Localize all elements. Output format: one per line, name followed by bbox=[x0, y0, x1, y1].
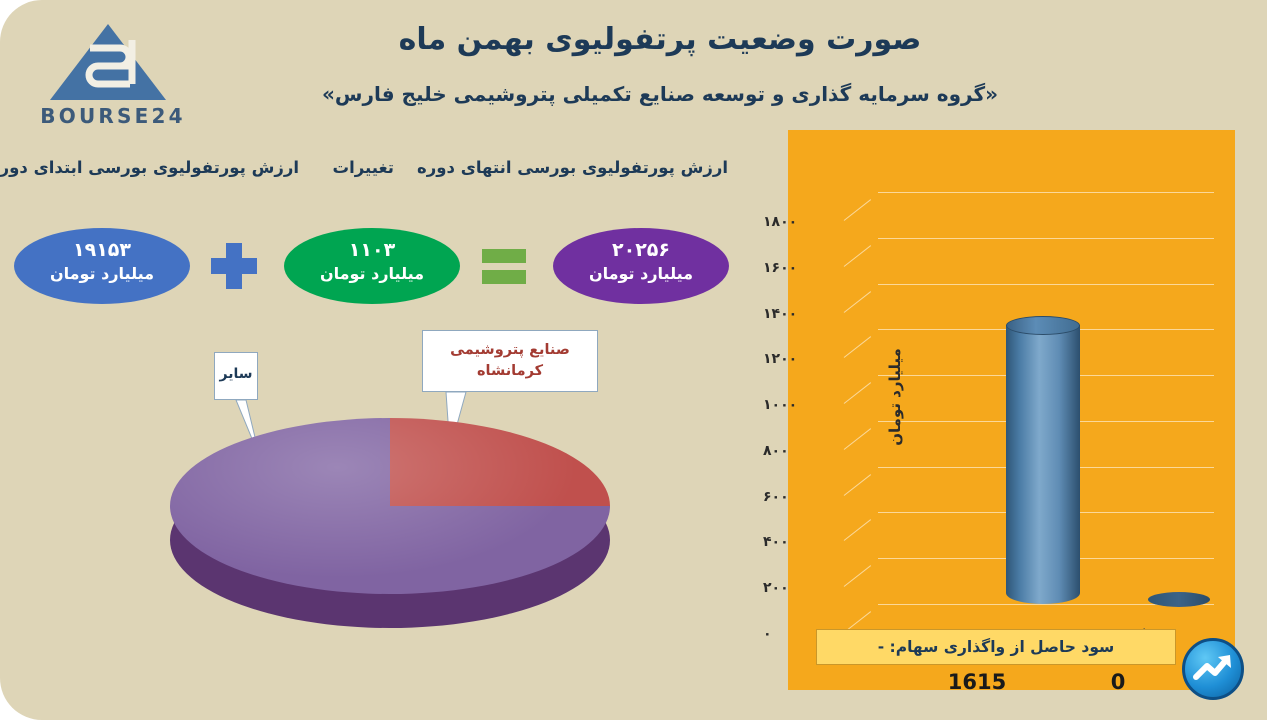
trend-arrow-glyph bbox=[1185, 641, 1241, 697]
xval-buy: 1615 bbox=[902, 670, 1052, 694]
summary-label-start: ارزش پورتفولیوی بورسی ابتدای دوره bbox=[0, 158, 299, 177]
summary-label-change: تغییرات bbox=[333, 158, 394, 177]
infographic-poster: BOURSE24 صورت وضعیت پرتفولیوی بهمن ماه «… bbox=[0, 0, 1267, 720]
bar-sell bbox=[1148, 592, 1210, 607]
ytick-200: ۲۰۰ bbox=[763, 580, 833, 596]
ytick-600: ۶۰۰ bbox=[763, 489, 833, 505]
brand-wordmark: BOURSE24 bbox=[28, 104, 198, 128]
summary-value-change: ۱۱۰۳ bbox=[284, 237, 460, 263]
summary-unit-start: میلیارد تومان bbox=[14, 263, 190, 285]
summary-oval-start: ۱۹۱۵۳ میلیارد تومان bbox=[14, 228, 190, 304]
trend-up-arrow-icon[interactable] bbox=[1182, 638, 1244, 700]
ytick-1000: ۱۰۰۰ bbox=[763, 397, 833, 413]
ytick-800: ۸۰۰ bbox=[763, 443, 833, 459]
pie-callout-kermanshah: صنایع پتروشیمی کرمانشاه bbox=[422, 330, 598, 392]
summary-label-end: ارزش پورتفولیوی بورسی انتهای دوره bbox=[417, 158, 728, 177]
page-subtitle: «گروه سرمایه گذاری و توسعه صنایع تکمیلی … bbox=[250, 82, 1070, 106]
ytick-400: ۴۰۰ bbox=[763, 534, 833, 550]
summary-oval-end: ۲۰۲۵۶ میلیارد تومان bbox=[553, 228, 729, 304]
pie-graphic bbox=[170, 418, 610, 628]
summary-unit-change: میلیارد تومان bbox=[284, 263, 460, 285]
equals-icon bbox=[481, 243, 527, 289]
bar-buy bbox=[1006, 316, 1080, 604]
ytick-1200: ۱۲۰۰ bbox=[763, 351, 833, 367]
summary-unit-end: میلیارد تومان bbox=[553, 263, 729, 285]
bourse24-triangle-logo-icon bbox=[46, 22, 170, 102]
y-axis-label: میلیارد تومان bbox=[886, 348, 904, 446]
brand-logo: BOURSE24 bbox=[28, 22, 198, 134]
summary-value-start: ۱۹۱۵۳ bbox=[14, 237, 190, 263]
ytick-1600: ۱۶۰۰ bbox=[763, 260, 833, 276]
plus-icon bbox=[211, 243, 257, 289]
portfolio-pie-chart: سایر صنایع پتروشیمی کرمانشاه bbox=[150, 330, 650, 650]
pie-callout-other: سایر bbox=[214, 352, 258, 400]
page-title: صورت وضعیت پرتفولیوی بهمن ماه bbox=[250, 22, 1070, 57]
ytick-1800: ۱۸۰۰ bbox=[763, 214, 833, 230]
summary-value-end: ۲۰۲۵۶ bbox=[553, 237, 729, 263]
summary-oval-change: ۱۱۰۳ میلیارد تومان bbox=[284, 228, 460, 304]
pie-3d-top bbox=[170, 418, 610, 594]
trade-bar-chart-panel: ۱۸۰۰ ۱۶۰۰ ۱۴۰۰ ۱۲۰۰ ۱۰۰۰ ۸۰۰ ۶۰۰ ۴۰۰ ۲۰۰… bbox=[788, 130, 1235, 690]
footer-note: سود حاصل از واگذاری سهام: - bbox=[816, 629, 1176, 665]
bar-chart-plot: ۱۸۰۰ ۱۶۰۰ ۱۴۰۰ ۱۲۰۰ ۱۰۰۰ ۸۰۰ ۶۰۰ ۴۰۰ ۲۰۰… bbox=[854, 192, 1214, 604]
xval-sell: 0 bbox=[1043, 670, 1193, 694]
ytick-1400: ۱۴۰۰ bbox=[763, 306, 833, 322]
